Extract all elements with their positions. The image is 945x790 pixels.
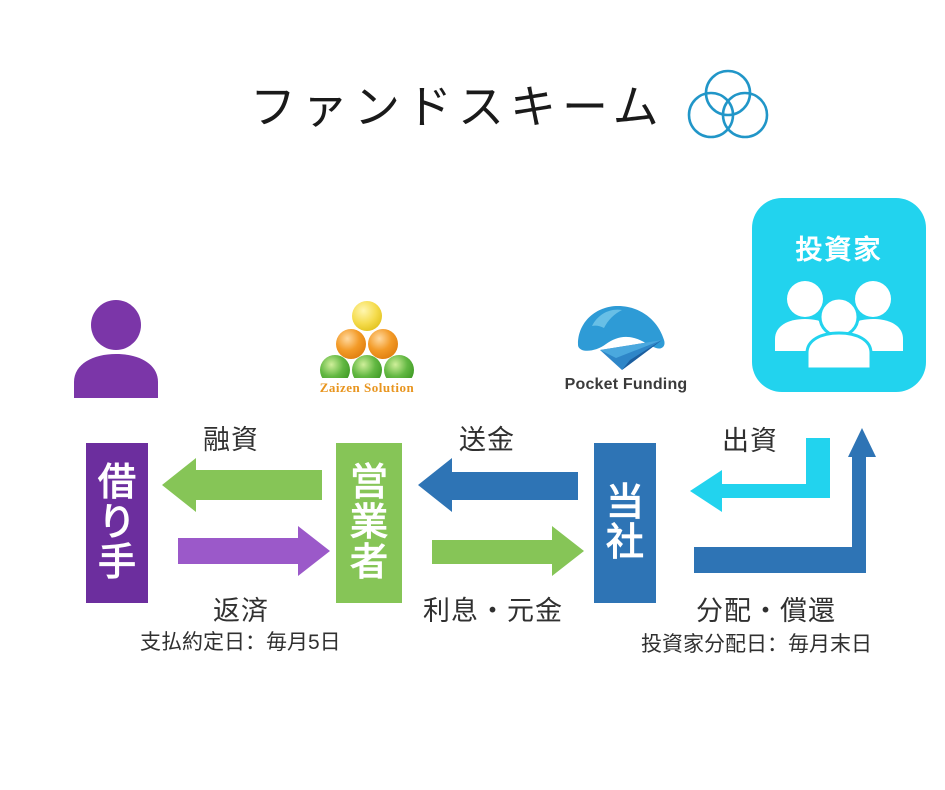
borrower-char-2: り xyxy=(98,503,136,543)
operator-char-2: 業 xyxy=(350,503,388,543)
page-title-text: ファンドスキーム xyxy=(250,71,665,137)
operator-char-3: 者 xyxy=(350,543,388,583)
borrower-box: 借 り 手 xyxy=(86,443,148,603)
arrow-sokin xyxy=(418,458,578,512)
three-people-icon xyxy=(769,273,909,369)
company-char-1: 当 xyxy=(606,483,644,523)
borrower-char-3: 手 xyxy=(98,543,136,583)
company-box: 当 社 xyxy=(594,443,656,603)
arrow-hensai xyxy=(178,526,330,576)
flow-label-yushi: 融資 xyxy=(203,418,259,457)
flow-label-risoku: 利息・元金 xyxy=(423,589,563,628)
investors-label: 投資家 xyxy=(796,228,883,267)
payment-date-note: 支払約定日：毎月5日 xyxy=(140,626,341,656)
three-overlapping-circles-icon xyxy=(687,68,769,140)
pocket-funding-logo: Pocket Funding xyxy=(562,296,690,394)
arrow-yushi xyxy=(162,458,322,512)
flow-label-shusshi: 出資 xyxy=(722,419,778,458)
distribution-date-note: 投資家分配日：毎月末日 xyxy=(641,628,872,658)
zaizen-solution-logo-text: Zaizen Solution xyxy=(320,380,415,396)
arrow-risoku xyxy=(432,526,584,576)
page-title: ファンドスキーム xyxy=(250,68,769,140)
fund-scheme-diagram: ファンドスキーム xyxy=(0,0,945,790)
zaizen-solution-spheres-logo xyxy=(315,300,419,378)
flow-label-sokin: 送金 xyxy=(459,418,515,457)
company-char-2: 社 xyxy=(606,523,644,563)
operator-box: 営 業 者 xyxy=(336,443,402,603)
zaizen-solution-logo: Zaizen Solution xyxy=(312,300,422,396)
investors-card: 投資家 xyxy=(752,198,926,392)
flow-label-bunpai: 分配・償還 xyxy=(696,589,836,628)
pocket-funding-cloud-plane-logo xyxy=(570,296,682,372)
operator-char-1: 営 xyxy=(350,463,388,503)
pocket-funding-logo-text: Pocket Funding xyxy=(565,376,688,394)
flow-label-hensai: 返済 xyxy=(213,589,269,628)
borrower-char-1: 借 xyxy=(98,463,136,503)
person-icon xyxy=(68,298,164,398)
